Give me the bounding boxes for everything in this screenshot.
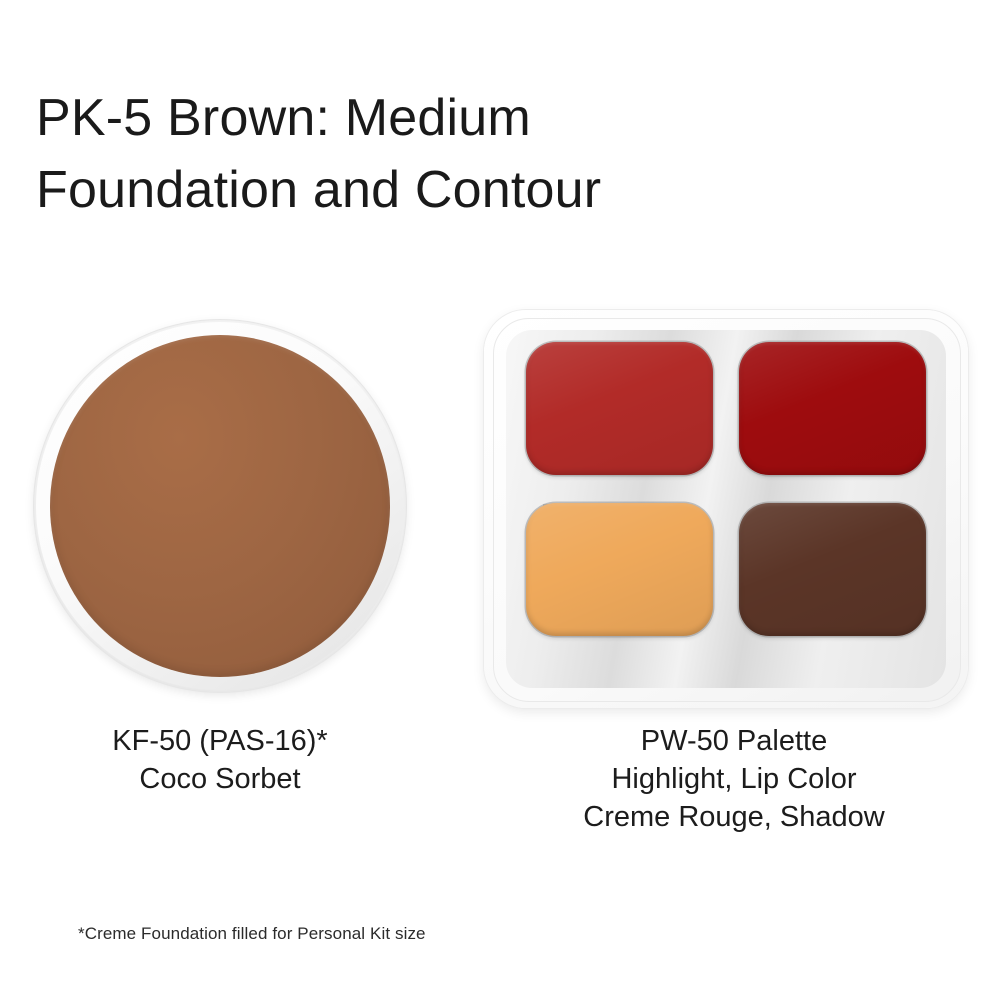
palette-pan-highlight [526, 503, 713, 636]
product-row: Ben Nye Color Cake [0, 300, 1000, 720]
foundation-pan [34, 320, 406, 692]
foundation-caption-line-2: Coco Sorbet [20, 760, 420, 798]
product-image-canvas: PK-5 Brown: Medium Foundation and Contou… [0, 0, 1000, 1000]
palette-caption-line-1: PW-50 Palette [500, 722, 968, 760]
palette-pan-grid [526, 342, 926, 672]
page-title-line-1: PK-5 Brown: Medium [36, 82, 936, 154]
page-title: PK-5 Brown: Medium Foundation and Contou… [36, 82, 936, 226]
footnote: *Creme Foundation filled for Personal Ki… [78, 924, 426, 944]
foundation-caption-line-1: KF-50 (PAS-16)* [20, 722, 420, 760]
palette-caption: PW-50 Palette Highlight, Lip Color Creme… [500, 722, 968, 836]
palette-caption-line-3: Creme Rouge, Shadow [500, 798, 968, 836]
palette-pan-shadow [739, 503, 926, 636]
palette-pan-lip-color [739, 342, 926, 475]
palette-tray: Ben Nye Color Cake [484, 310, 968, 708]
page-title-line-2: Foundation and Contour [36, 154, 936, 226]
foundation-caption: KF-50 (PAS-16)* Coco Sorbet [20, 722, 420, 798]
palette-pan-creme-rouge [526, 342, 713, 475]
foundation-product-surface [50, 335, 390, 677]
palette-caption-line-2: Highlight, Lip Color [500, 760, 968, 798]
